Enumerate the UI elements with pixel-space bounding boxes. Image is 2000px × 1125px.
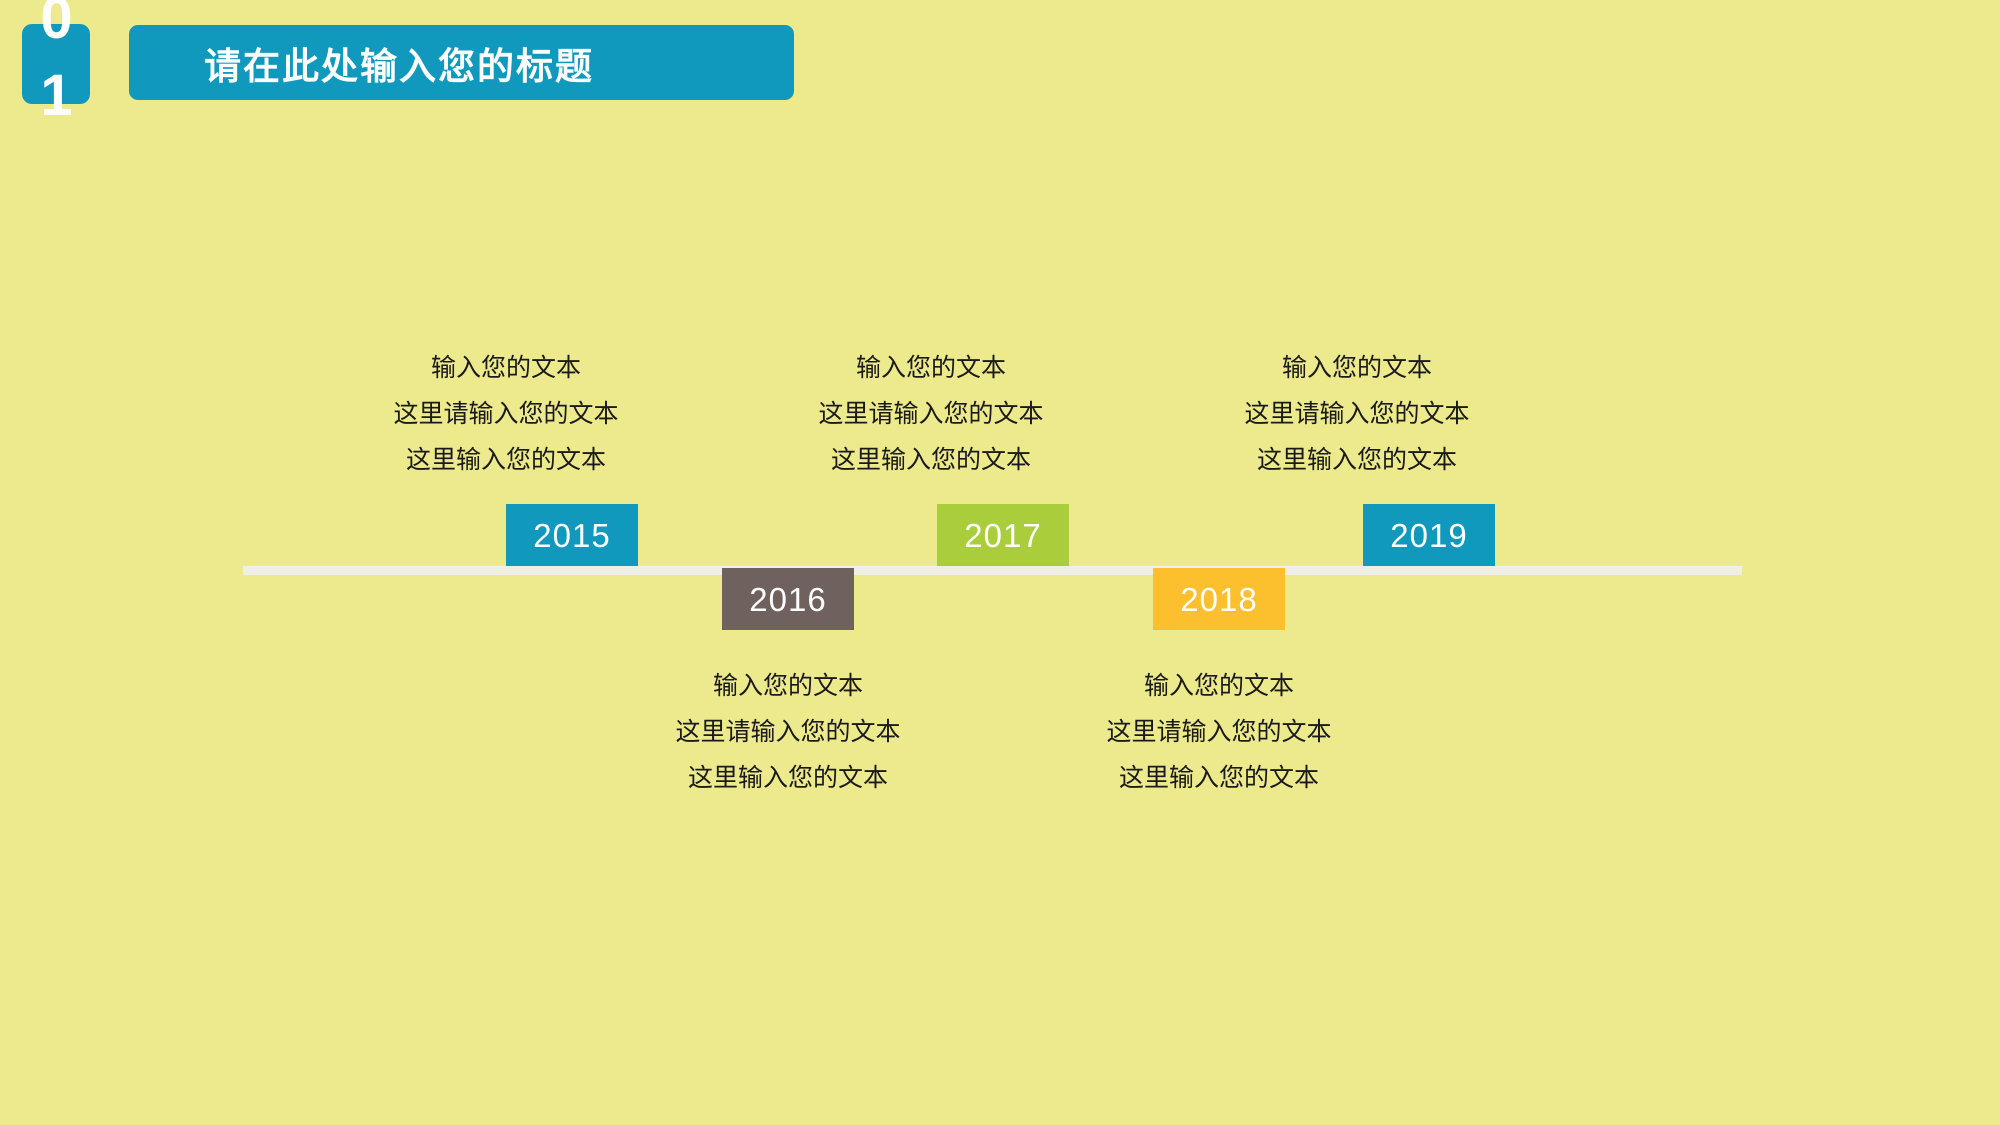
timeline-year-label: 2015 [533,519,610,552]
description-line: 输入您的文本 [721,345,1141,391]
timeline-description-2019: 输入您的文本 这里请输入您的文本 这里输入您的文本 [1147,345,1567,483]
timeline-year-label: 2016 [749,583,826,616]
timeline-year-box-2019[interactable]: 2019 [1363,504,1495,566]
description-line: 输入您的文本 [296,345,716,391]
timeline: 输入您的文本 这里请输入您的文本 这里输入您的文本 2015 2016 输入您的… [0,0,2000,1125]
timeline-year-box-2015[interactable]: 2015 [506,504,638,566]
description-line: 这里输入您的文本 [721,437,1141,483]
timeline-year-box-2017[interactable]: 2017 [937,504,1069,566]
timeline-year-label: 2017 [964,519,1041,552]
description-line: 这里请输入您的文本 [1147,391,1567,437]
description-line: 这里输入您的文本 [1009,755,1429,801]
timeline-year-label: 2018 [1180,583,1257,616]
timeline-description-2016: 输入您的文本 这里请输入您的文本 这里输入您的文本 [578,663,998,801]
timeline-year-box-2018[interactable]: 2018 [1153,568,1285,630]
description-line: 这里请输入您的文本 [721,391,1141,437]
description-line: 输入您的文本 [1009,663,1429,709]
timeline-description-2015: 输入您的文本 这里请输入您的文本 这里输入您的文本 [296,345,716,483]
description-line: 输入您的文本 [1147,345,1567,391]
timeline-description-2017: 输入您的文本 这里请输入您的文本 这里输入您的文本 [721,345,1141,483]
timeline-axis-line [243,566,1742,575]
timeline-year-label: 2019 [1390,519,1467,552]
description-line: 这里请输入您的文本 [296,391,716,437]
description-line: 这里输入您的文本 [1147,437,1567,483]
timeline-description-2018: 输入您的文本 这里请输入您的文本 这里输入您的文本 [1009,663,1429,801]
description-line: 输入您的文本 [578,663,998,709]
description-line: 这里输入您的文本 [578,755,998,801]
description-line: 这里请输入您的文本 [578,709,998,755]
description-line: 这里请输入您的文本 [1009,709,1429,755]
timeline-year-box-2016[interactable]: 2016 [722,568,854,630]
description-line: 这里输入您的文本 [296,437,716,483]
